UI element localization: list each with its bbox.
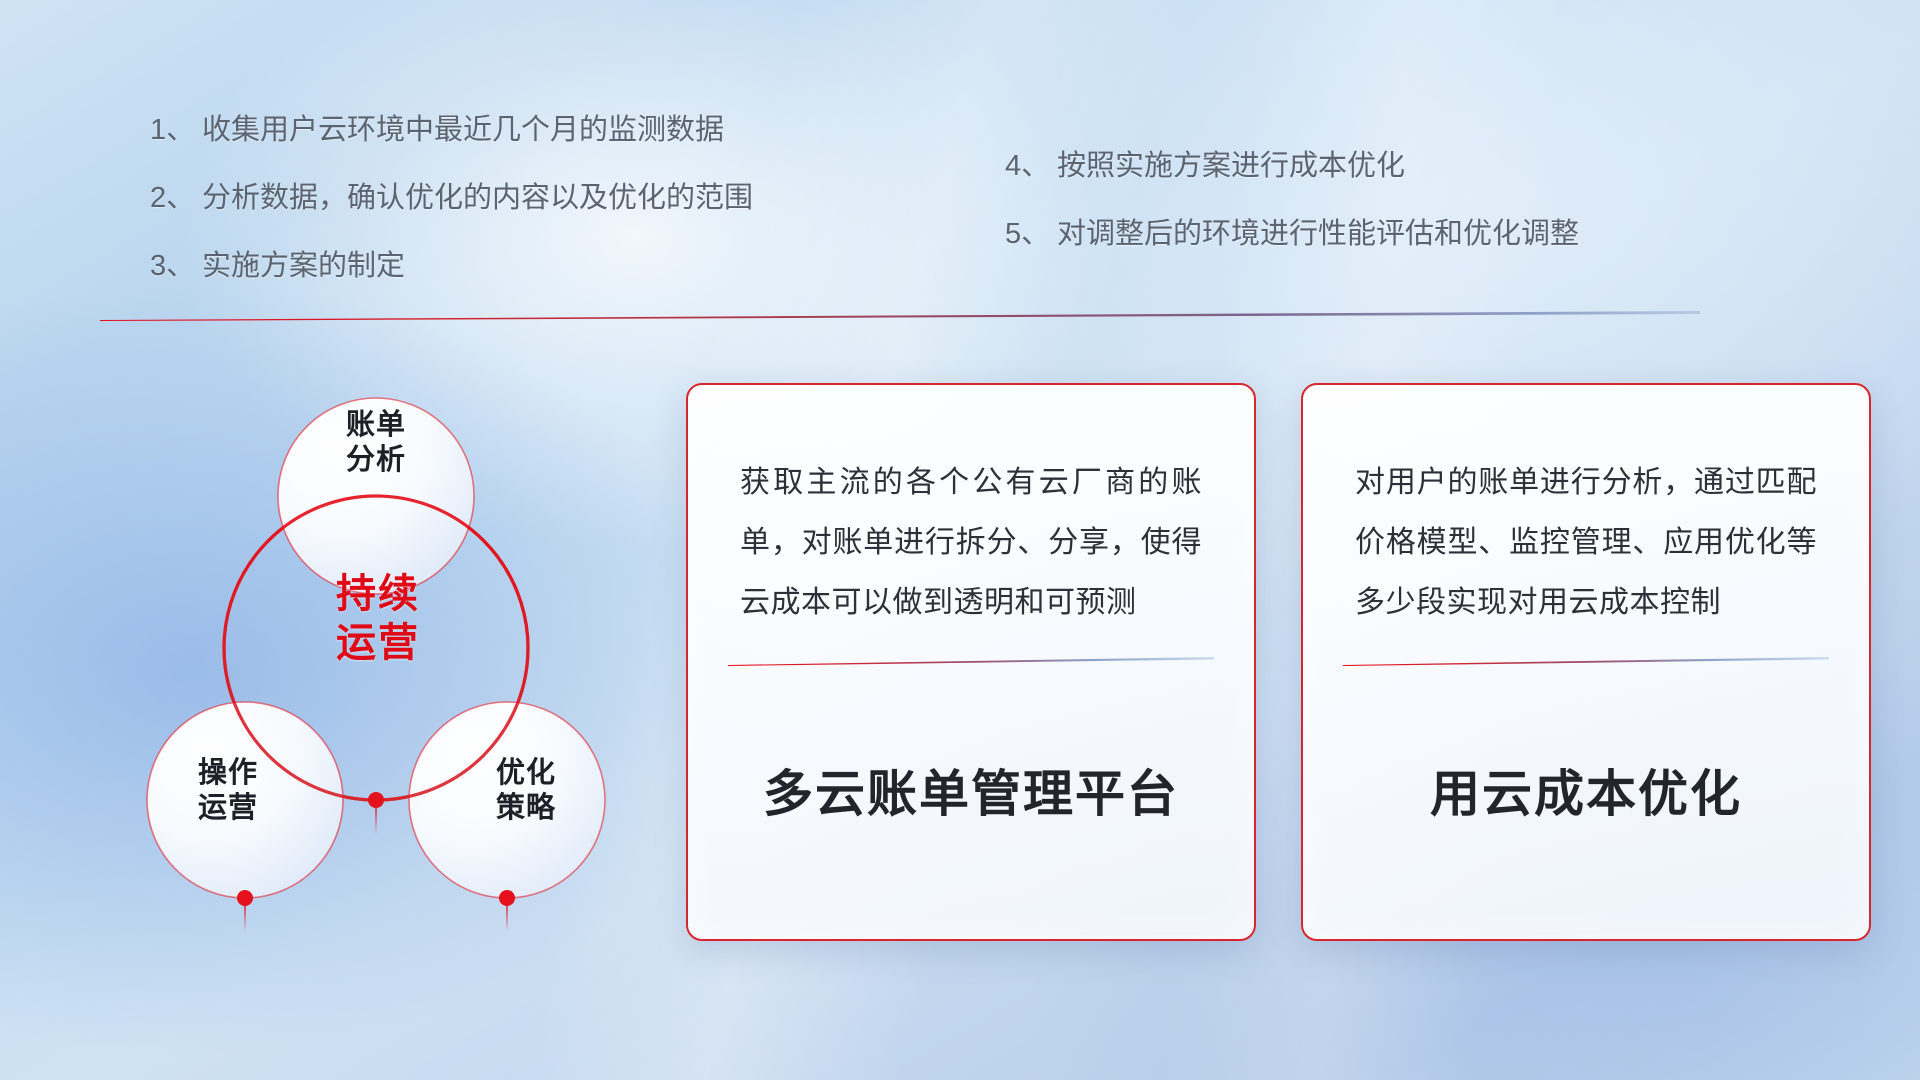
bullet-number: 5、 [1005, 220, 1057, 249]
card-description: 对用户的账单进行分析，通过匹配价格模型、监控管理、应用优化等多少段实现对用云成本… [1355, 453, 1817, 633]
bullet-item: 2、 分析数据，确认优化的内容以及优化的范围 [150, 184, 870, 213]
node-bubble-left [147, 702, 343, 898]
bullet-number: 1、 [150, 116, 202, 145]
slide-canvas: 1、 收集用户云环境中最近几个月的监测数据 2、 分析数据，确认优化的内容以及优… [0, 0, 1920, 1080]
section-divider [100, 309, 1700, 321]
bullet-text: 实施方案的制定 [202, 252, 405, 281]
bullet-number: 4、 [1005, 152, 1057, 181]
continuous-operations-diagram: 账单 分析 操作 运营 优化 策略 持续 运营 [90, 348, 650, 968]
card-divider [728, 655, 1214, 666]
card-body: 对用户的账单进行分析，通过匹配价格模型、监控管理、应用优化等多少段实现对用云成本… [1303, 385, 1869, 633]
bullet-item: 3、 实施方案的制定 [150, 252, 870, 281]
card-title: 用云成本优化 [1303, 666, 1869, 939]
venn-svg [90, 348, 650, 968]
bullet-text: 按照实施方案进行成本优化 [1057, 152, 1405, 181]
bullet-list-left: 1、 收集用户云环境中最近几个月的监测数据 2、 分析数据，确认优化的内容以及优… [150, 116, 870, 281]
card-body: 获取主流的各个公有云厂商的账单，对账单进行拆分、分享，使得云成本可以做到透明和可… [688, 385, 1254, 633]
card-title: 多云账单管理平台 [688, 666, 1254, 939]
bullet-number: 3、 [150, 252, 202, 281]
marker-dot-right [499, 890, 515, 906]
bullet-text: 收集用户云环境中最近几个月的监测数据 [202, 116, 724, 145]
info-card-cloud-cost-optimization[interactable]: 对用户的账单进行分析，通过匹配价格模型、监控管理、应用优化等多少段实现对用云成本… [1301, 383, 1871, 941]
card-description: 获取主流的各个公有云厂商的账单，对账单进行拆分、分享，使得云成本可以做到透明和可… [740, 453, 1202, 633]
node-bubble-right [409, 702, 605, 898]
marker-dot-top [368, 792, 384, 808]
bullet-item: 4、 按照实施方案进行成本优化 [1005, 152, 1765, 181]
marker-dot-left [237, 890, 253, 906]
bullet-text: 对调整后的环境进行性能评估和优化调整 [1057, 220, 1579, 249]
bullet-item: 5、 对调整后的环境进行性能评估和优化调整 [1005, 220, 1765, 249]
bullet-text: 分析数据，确认优化的内容以及优化的范围 [202, 184, 753, 213]
info-card-multi-cloud-billing[interactable]: 获取主流的各个公有云厂商的账单，对账单进行拆分、分享，使得云成本可以做到透明和可… [686, 383, 1256, 941]
bullet-number: 2、 [150, 184, 202, 213]
bullet-list-right: 4、 按照实施方案进行成本优化 5、 对调整后的环境进行性能评估和优化调整 [1005, 152, 1765, 249]
bullet-item: 1、 收集用户云环境中最近几个月的监测数据 [150, 116, 870, 145]
card-divider [1343, 655, 1829, 666]
